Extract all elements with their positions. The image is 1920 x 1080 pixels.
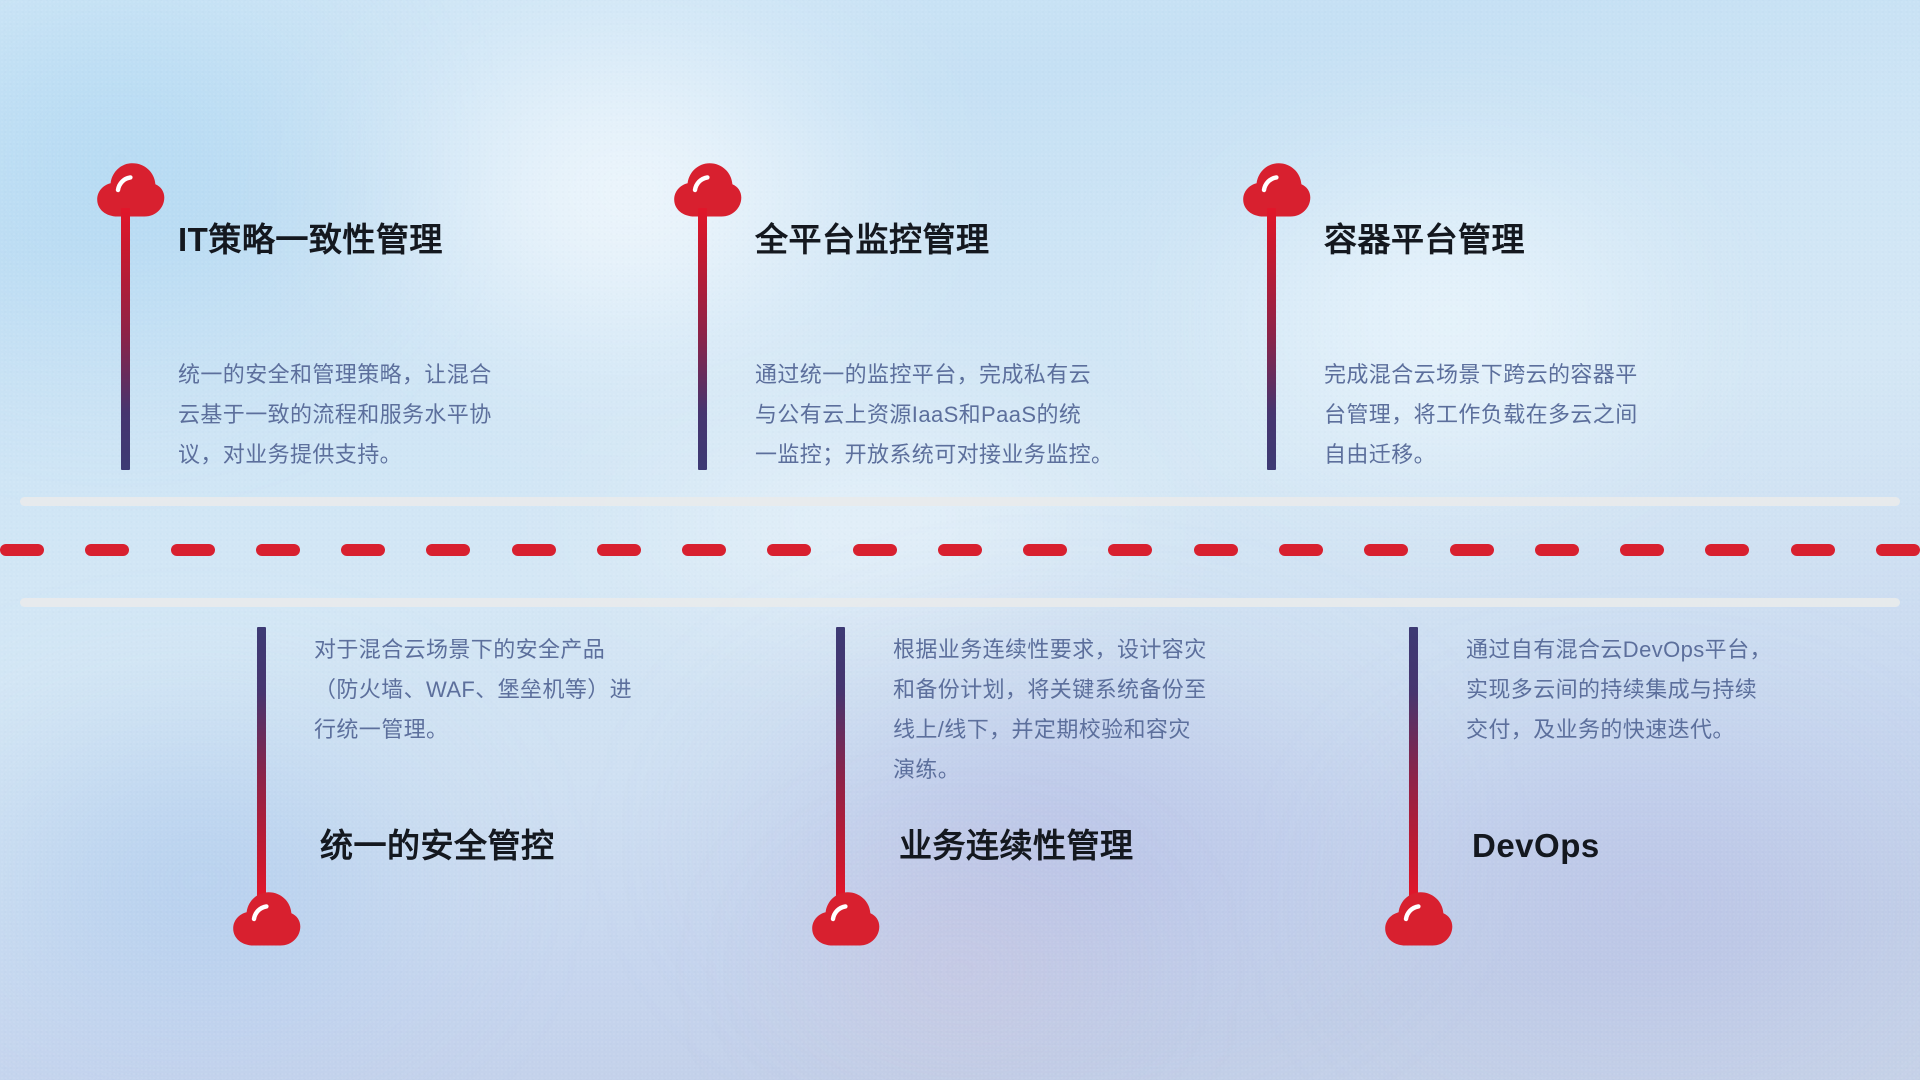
cloud-icon	[671, 161, 743, 217]
divider-dash	[682, 544, 726, 556]
divider-dash	[341, 544, 385, 556]
connector-stem	[1267, 208, 1276, 470]
connector-stem	[257, 627, 266, 897]
divider-dash	[1023, 544, 1067, 556]
divider-dash	[1194, 544, 1238, 556]
connector-stem	[1409, 627, 1418, 897]
item-description: 统一的安全和管理策略，让混合 云基于一致的流程和服务水平协 议，对业务提供支持。	[178, 355, 608, 475]
divider-dash	[1791, 544, 1835, 556]
divider-dash	[1279, 544, 1323, 556]
divider-bar-upper	[20, 497, 1900, 506]
divider-bar-lower	[20, 598, 1900, 607]
cloud-icon	[94, 161, 166, 217]
divider-dash	[1364, 544, 1408, 556]
divider-dash	[171, 544, 215, 556]
divider-dash	[512, 544, 556, 556]
item-description: 根据业务连续性要求，设计容灾 和备份计划，将关键系统备份至 线上/线下，并定期校…	[893, 630, 1333, 790]
divider-dash	[1876, 544, 1920, 556]
item-title: 全平台监控管理	[755, 220, 990, 260]
divider-dash	[1620, 544, 1664, 556]
divider-dash	[426, 544, 470, 556]
item-description: 完成混合云场景下跨云的容器平 台管理，将工作负载在多云之间 自由迁移。	[1324, 355, 1764, 475]
divider-dash	[1705, 544, 1749, 556]
connector-stem	[698, 208, 707, 470]
item-description: 通过自有混合云DevOps平台， 实现多云间的持续集成与持续 交付，及业务的快速…	[1466, 630, 1896, 750]
cloud-icon	[1382, 890, 1454, 946]
divider-dash	[1108, 544, 1152, 556]
divider-dash	[853, 544, 897, 556]
item-description: 对于混合云场景下的安全产品 （防火墙、WAF、堡垒机等）进 行统一管理。	[314, 630, 744, 750]
item-title: IT策略一致性管理	[178, 220, 443, 260]
divider-dashed-line	[0, 544, 1920, 556]
cloud-icon	[809, 890, 881, 946]
divider-dash	[0, 544, 44, 556]
divider-dash	[85, 544, 129, 556]
cloud-icon	[1240, 161, 1312, 217]
infographic-canvas: IT策略一致性管理 统一的安全和管理策略，让混合 云基于一致的流程和服务水平协 …	[0, 0, 1920, 1080]
divider-dash	[1535, 544, 1579, 556]
item-title: DevOps	[1472, 826, 1600, 866]
divider-dash	[256, 544, 300, 556]
divider-dash	[1450, 544, 1494, 556]
divider-dash	[938, 544, 982, 556]
item-title: 容器平台管理	[1324, 220, 1525, 260]
item-title: 统一的安全管控	[320, 826, 555, 866]
item-description: 通过统一的监控平台，完成私有云 与公有云上资源IaaS和PaaS的统 一监控；开…	[755, 355, 1215, 475]
connector-stem	[121, 208, 130, 470]
divider-dash	[597, 544, 641, 556]
connector-stem	[836, 627, 845, 897]
divider-dash	[767, 544, 811, 556]
item-title: 业务连续性管理	[899, 826, 1134, 866]
cloud-icon	[230, 890, 302, 946]
